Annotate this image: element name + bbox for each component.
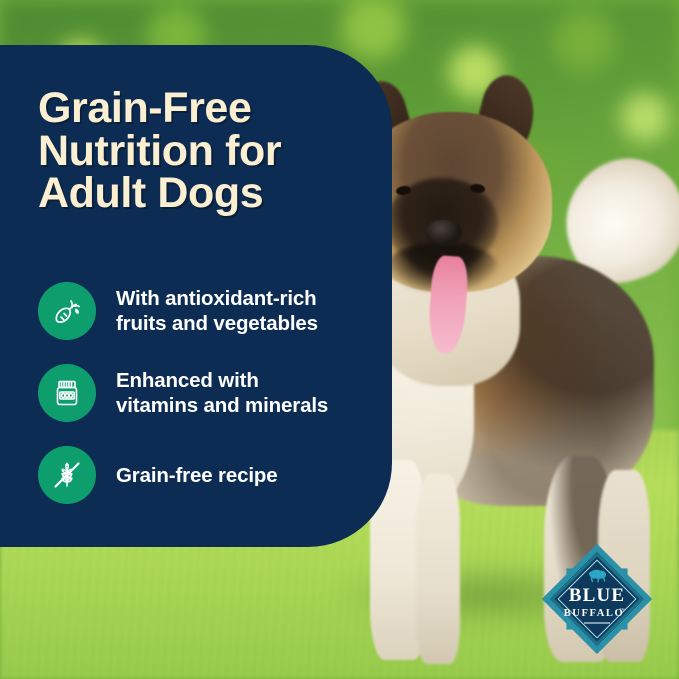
feature-1-line-2: fruits and vegetables xyxy=(116,312,318,335)
feature-3-line-1: Grain-free recipe xyxy=(116,464,278,487)
logo-word-blue: BLUE xyxy=(569,585,626,606)
info-panel: Grain-Free Nutrition for Adult Dogs xyxy=(0,45,392,547)
headline-line-1: Grain-Free xyxy=(38,87,358,130)
feature-2-line-2: vitamins and minerals xyxy=(116,394,328,417)
carrot-vegetable-icon xyxy=(38,282,96,340)
headline-line-3: Adult Dogs xyxy=(38,172,358,215)
list-item: Grain-free recipe xyxy=(38,442,368,508)
headline-line-2: Nutrition for xyxy=(38,130,358,173)
list-item-label: Enhanced with vitamins and minerals xyxy=(116,368,328,418)
feature-2-line-1: Enhanced with xyxy=(116,369,259,392)
logo-trademark: ™ xyxy=(619,608,625,614)
list-item-label: With antioxidant-rich fruits and vegetab… xyxy=(116,286,318,336)
page-title: Grain-Free Nutrition for Adult Dogs xyxy=(38,87,358,215)
brand-logo: BLUE BUFFALO ™ xyxy=(538,540,656,658)
product-ad-image: Grain-Free Nutrition for Adult Dogs xyxy=(0,0,679,679)
dog-front-leg-far xyxy=(416,474,460,664)
feature-1-line-1: With antioxidant-rich xyxy=(116,287,317,310)
vitamin-jar-icon xyxy=(38,364,96,422)
dog-nose xyxy=(426,220,462,246)
list-item-label: Grain-free recipe xyxy=(116,463,278,488)
list-item: Enhanced with vitamins and minerals xyxy=(38,360,368,426)
feature-list: With antioxidant-rich fruits and vegetab… xyxy=(38,278,368,508)
no-grain-wheat-icon xyxy=(38,446,96,504)
list-item: With antioxidant-rich fruits and vegetab… xyxy=(38,278,368,344)
logo-word-buffalo: BUFFALO xyxy=(564,608,625,619)
